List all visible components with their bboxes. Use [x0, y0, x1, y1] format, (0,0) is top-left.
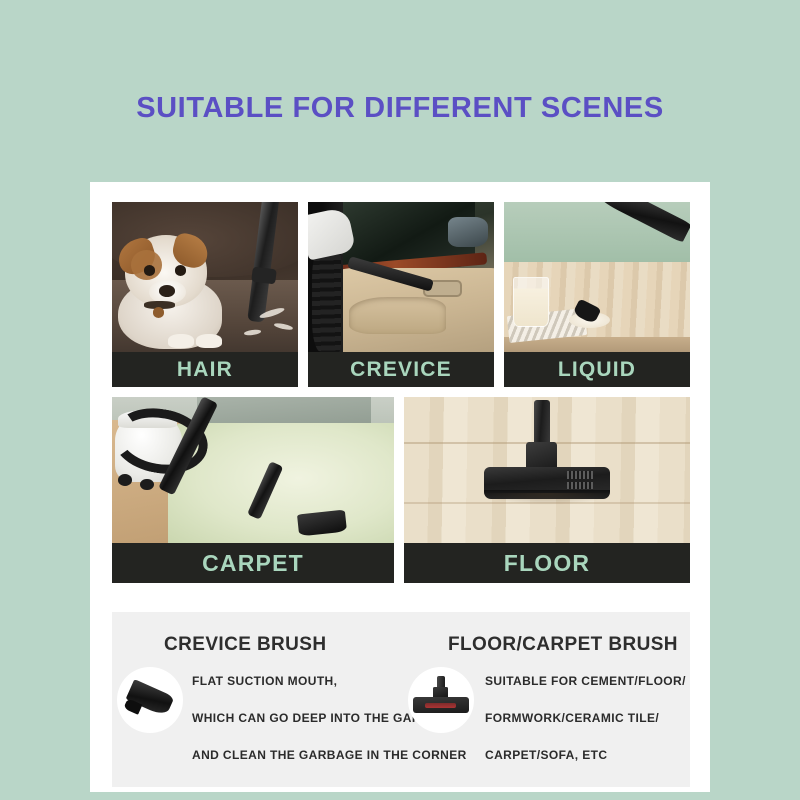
- floor-carpet-desc-line-1: SUITABLE FOR CEMENT/FLOOR/: [485, 674, 686, 688]
- floor-brush-icon: [404, 397, 690, 543]
- scene-card-liquid[interactable]: LIQUID: [504, 202, 690, 387]
- milk-spill-icon: [504, 202, 690, 352]
- scene-card-carpet[interactable]: CARPET: [112, 397, 394, 583]
- hair-photo: [112, 202, 298, 352]
- scene-card-hair[interactable]: HAIR: [112, 202, 298, 387]
- scene-label-crevice: CREVICE: [308, 352, 494, 387]
- scene-card-crevice[interactable]: CREVICE: [308, 202, 494, 387]
- floor-carpet-brush-icon: [408, 667, 474, 733]
- floor-photo: [404, 397, 690, 543]
- dog-on-sofa-icon: [112, 202, 298, 352]
- floor-carpet-desc-line-3: CARPET/SOFA, ETC: [485, 748, 686, 762]
- content-panel: HAIR CR: [90, 182, 710, 792]
- info-column-crevice: CREVICE BRUSH FLAT SUCTION MOUTH, WHICH …: [112, 612, 400, 787]
- carpet-photo: [112, 397, 394, 543]
- scene-card-floor[interactable]: FLOOR: [404, 397, 690, 583]
- vacuum-on-carpet-icon: [112, 397, 394, 543]
- scene-label-hair: HAIR: [112, 352, 298, 387]
- crevice-brush-title: CREVICE BRUSH: [164, 634, 327, 656]
- page-title: SUITABLE FOR DIFFERENT SCENES: [0, 92, 800, 125]
- scene-label-liquid: LIQUID: [504, 352, 690, 387]
- scene-label-carpet: CARPET: [112, 543, 394, 583]
- liquid-photo: [504, 202, 690, 352]
- scene-label-floor: FLOOR: [404, 543, 690, 583]
- car-door-icon: [308, 202, 494, 352]
- info-column-floor-carpet: FLOOR/CARPET BRUSH SUITABLE FOR CEMENT/F…: [400, 612, 690, 787]
- floor-carpet-brush-description: SUITABLE FOR CEMENT/FLOOR/ FORMWORK/CERA…: [485, 674, 686, 785]
- info-panel: CREVICE BRUSH FLAT SUCTION MOUTH, WHICH …: [112, 612, 690, 787]
- floor-carpet-brush-title: FLOOR/CARPET BRUSH: [448, 634, 678, 656]
- scene-row-1: HAIR CR: [112, 202, 690, 387]
- scene-row-2: CARPET FLOOR: [112, 397, 690, 583]
- crevice-photo: [308, 202, 494, 352]
- scene-grid: HAIR CR: [112, 202, 690, 593]
- crevice-brush-icon: [117, 667, 183, 733]
- floor-carpet-desc-line-2: FORMWORK/CERAMIC TILE/: [485, 711, 686, 725]
